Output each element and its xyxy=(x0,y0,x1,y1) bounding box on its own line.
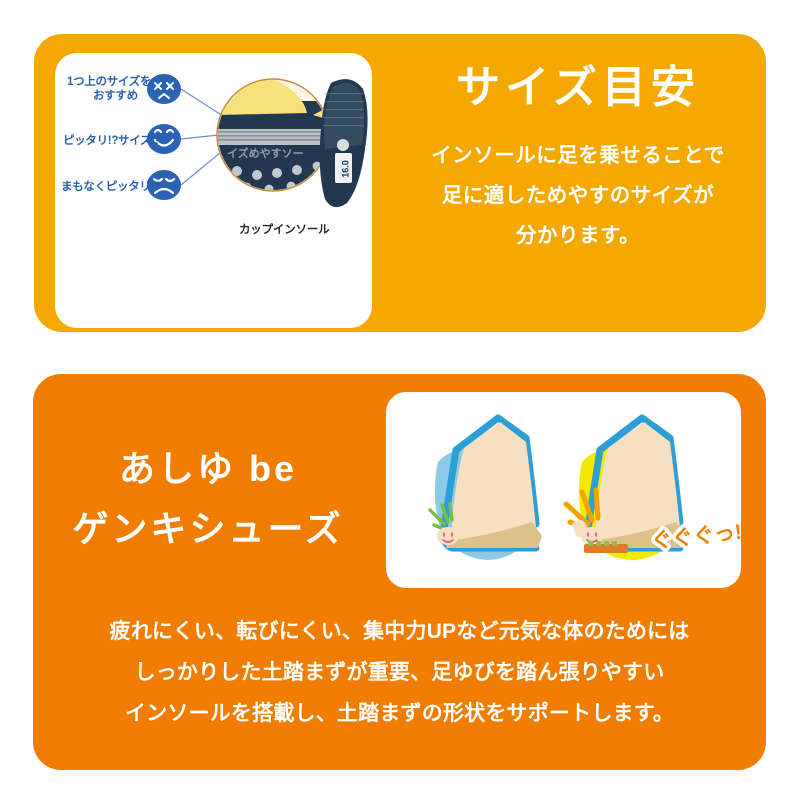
flat-foot-figure xyxy=(430,418,542,560)
size-label-one-up: 1つ上のサイズを おすすめ xyxy=(67,75,151,104)
genki-body-line-1: 疲れにくい、転びにくい、集中力UPなど元気な体のためには xyxy=(33,612,766,653)
brand-title-line-2: ゲンキシューズ xyxy=(72,511,343,547)
infographic-root: イズめやすソー xyxy=(0,0,800,800)
foot-arch-image-card: ぐぐぐっ! ぐぐぐっ! xyxy=(386,392,741,588)
brand-title-block: あしゆ be ゲンキシューズ xyxy=(33,424,383,574)
cup-insole-illustration: イズめやすソー xyxy=(55,53,372,328)
size-guide-text-column: サイズ目安 インソールに足を乗せることで 足に適しためやすのサイズが 分かります… xyxy=(390,34,766,332)
size-guide-panel: イズめやすソー xyxy=(34,34,766,332)
size-guide-title: サイズ目安 xyxy=(456,66,700,110)
brand-title-line-1: あしゆ be xyxy=(119,451,297,487)
genki-body-line-2: しっかりした土踏まずが重要、足ゆびを踏ん張りやすい xyxy=(33,653,766,694)
svg-text:イズめやすソー: イズめやすソー xyxy=(227,146,304,160)
svg-text:16.0: 16.0 xyxy=(341,160,351,178)
genki-shoes-body: 疲れにくい、転びにくい、集中力UPなど元気な体のためには しっかりした土踏まずが… xyxy=(33,612,766,735)
size-guide-body-line-2: 足に適しためやすのサイズが xyxy=(431,176,724,216)
foot-arch-illustration: ぐぐぐっ! ぐぐぐっ! xyxy=(386,392,741,588)
size-label-perfect: ピッタリ!?サイズ!! xyxy=(63,132,158,148)
size-guide-body: インソールに足を乗せることで 足に適しためやすのサイズが 分かります。 xyxy=(431,136,724,256)
size-guide-body-line-1: インソールに足を乗せることで xyxy=(431,136,724,176)
size-guide-body-line-3: 分かります。 xyxy=(431,216,724,256)
genki-body-line-3: インソールを搭載し、土踏まずの形状をサポートします。 xyxy=(33,694,766,735)
insole-shape: 16.0 xyxy=(320,79,368,207)
size-guide-image-card: イズめやすソー xyxy=(55,53,372,328)
cup-insole-caption: カップインソール xyxy=(239,221,329,237)
size-label-almost: まもなくピッタリ!? xyxy=(61,178,161,194)
